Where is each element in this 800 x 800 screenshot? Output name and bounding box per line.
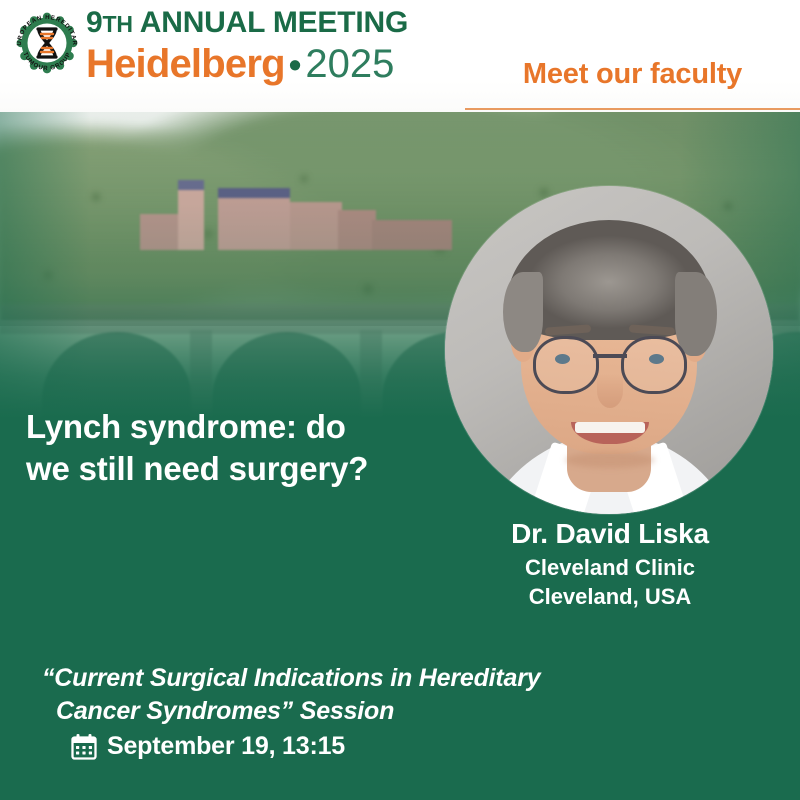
session-datetime-row: September 19, 13:15: [42, 732, 702, 761]
year: 2025: [305, 42, 394, 86]
meeting-ordinal-number: 9: [86, 6, 103, 39]
poster-header: EUROPEAN HEREDITARY TUMOUR GROUP 9TH ANN…: [0, 0, 800, 112]
talk-title: Lynch syndrome: do we still need surgery…: [26, 406, 446, 490]
meet-our-faculty-label: Meet our faculty: [465, 60, 800, 89]
eyeglass-lens-right: [621, 336, 687, 394]
session-title-line-2: Cancer Syndromes” Session: [42, 695, 702, 728]
speaker-portrait-photo: [445, 186, 773, 514]
session-info: “Current Surgical Indications in Heredit…: [42, 662, 702, 761]
faculty-underline-rule: [465, 108, 800, 110]
green-left-vignette: [0, 108, 90, 428]
speaker-info: Dr. David Liska Cleveland Clinic Clevela…: [440, 518, 780, 611]
meeting-title-rest: ANNUAL MEETING: [133, 6, 408, 39]
speaker-location: Cleveland, USA: [440, 583, 780, 612]
portrait-chin-shadow: [565, 452, 655, 468]
portrait-nose: [597, 374, 623, 408]
faculty-announcement-poster: EUROPEAN HEREDITARY TUMOUR GROUP 9TH ANN…: [0, 0, 800, 800]
meeting-ordinal-suffix: TH: [103, 11, 133, 37]
meeting-title: 9TH ANNUAL MEETING: [86, 8, 408, 38]
eyeglass-bridge: [593, 354, 627, 358]
logo-svg: EUROPEAN HEREDITARY TUMOUR GROUP: [8, 4, 86, 82]
portrait-teeth: [575, 422, 645, 433]
speaker-affiliation: Cleveland Clinic: [440, 554, 780, 583]
session-title-line-1: “Current Surgical Indications in Heredit…: [42, 662, 702, 695]
session-datetime: September 19, 13:15: [107, 732, 345, 761]
city-name: Heidelberg: [86, 42, 285, 86]
separator-dot: •: [285, 44, 306, 85]
calendar-icon: [70, 733, 98, 761]
european-hereditary-tumour-group-logo: EUROPEAN HEREDITARY TUMOUR GROUP: [8, 4, 86, 82]
eyeglass-lens-left: [533, 336, 599, 394]
speaker-name: Dr. David Liska: [440, 518, 780, 550]
city-year-line: Heidelberg•2025: [86, 44, 394, 84]
talk-title-line-1: Lynch syndrome: do: [26, 406, 446, 448]
talk-title-line-2: we still need surgery?: [26, 448, 446, 490]
calendar-icon-svg: [70, 733, 98, 761]
